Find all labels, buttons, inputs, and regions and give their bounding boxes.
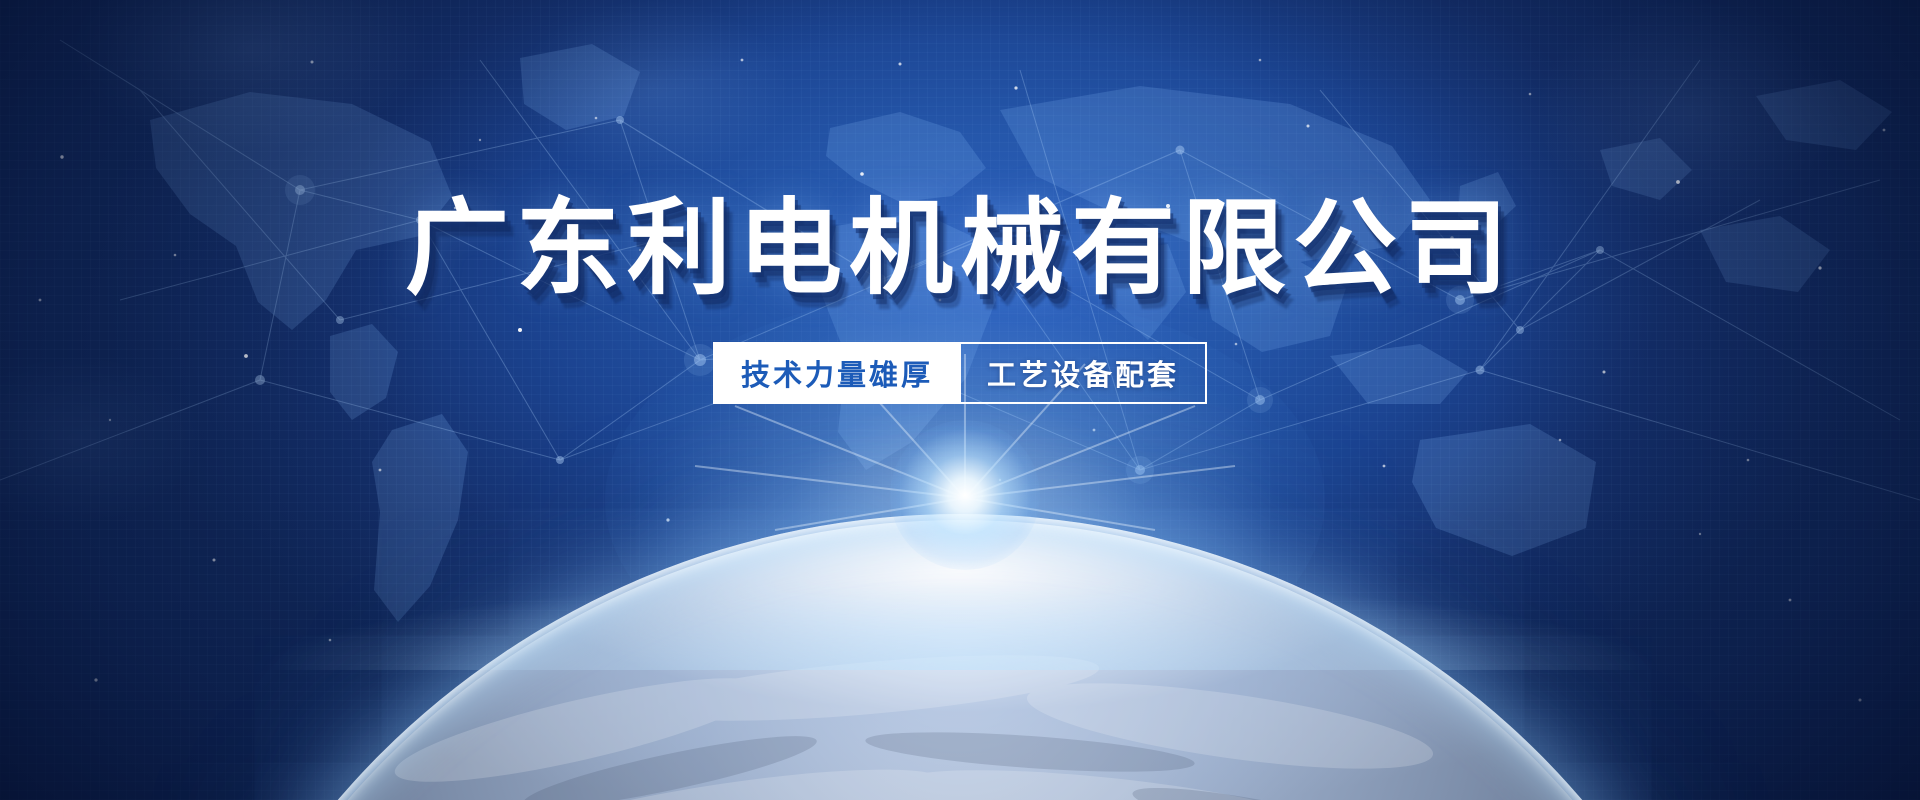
tagline-badge-primary: 技术力量雄厚 xyxy=(715,344,959,402)
tagline-group: 技术力量雄厚 工艺设备配套 xyxy=(713,342,1207,404)
company-title: 广东利电机械有限公司 xyxy=(0,196,1920,300)
hero-banner: 广东利电机械有限公司 技术力量雄厚 工艺设备配套 xyxy=(0,0,1920,800)
sun-core-flare xyxy=(890,420,1040,570)
tagline-badge-secondary: 工艺设备配套 xyxy=(959,344,1205,402)
banner-content: 广东利电机械有限公司 技术力量雄厚 工艺设备配套 xyxy=(0,0,1920,404)
